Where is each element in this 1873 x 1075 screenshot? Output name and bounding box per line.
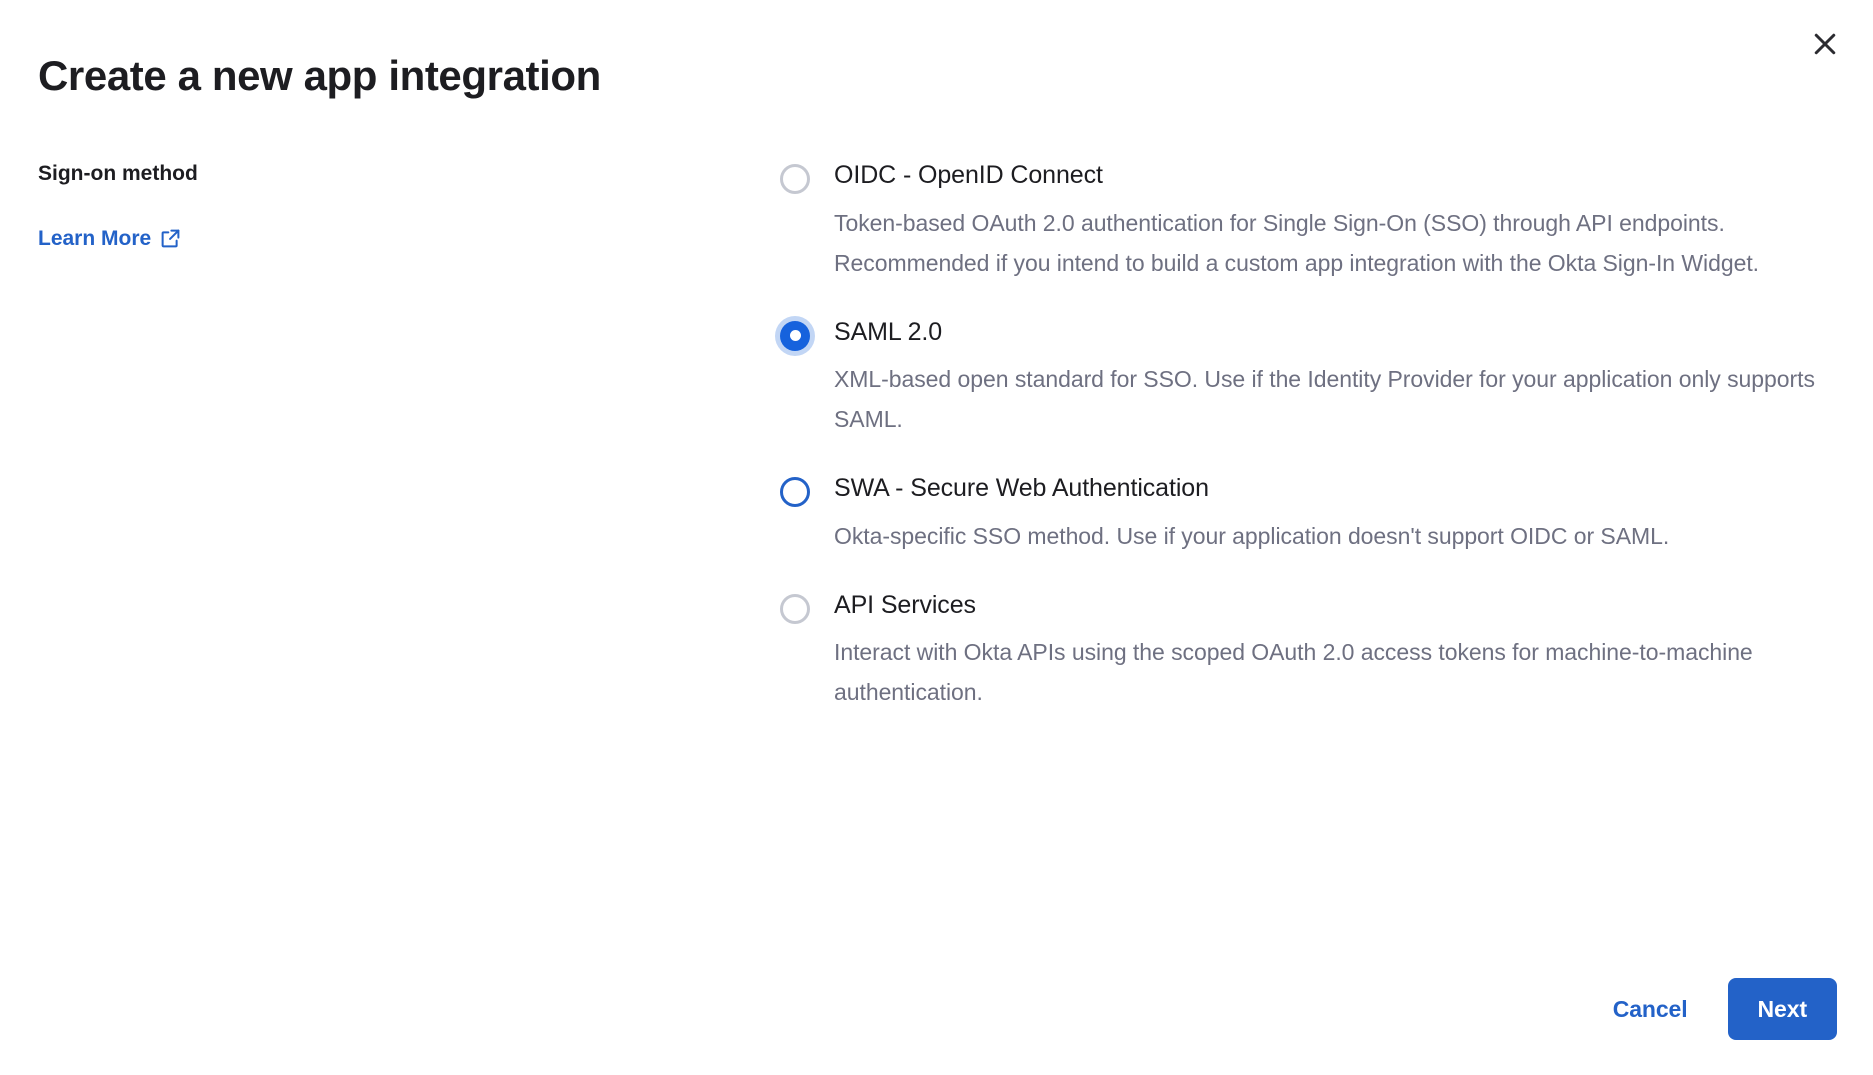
radio-swa[interactable] [780,477,810,507]
next-button[interactable]: Next [1728,978,1837,1040]
signon-method-column: Sign-on method Learn More [38,160,598,253]
option-oidc-description: Token-based OAuth 2.0 authentication for… [834,203,1830,283]
option-saml-description: XML-based open standard for SSO. Use if … [834,359,1830,439]
option-oidc[interactable]: OIDC - OpenID Connect Token-based OAuth … [770,160,1830,283]
signon-method-label: Sign-on method [38,160,598,187]
option-api-services[interactable]: API Services Interact with Okta APIs usi… [770,590,1830,713]
option-api-services-label: API Services [834,590,1830,621]
learn-more-link[interactable]: Learn More [38,225,181,252]
radio-oidc[interactable] [780,164,810,194]
option-api-services-description: Interact with Okta APIs using the scoped… [834,632,1830,712]
option-swa-description: Okta-specific SSO method. Use if your ap… [834,516,1830,556]
option-swa-label: SWA - Secure Web Authentication [834,473,1830,504]
close-icon [1810,29,1840,59]
learn-more-label: Learn More [38,225,151,252]
radio-api-services[interactable] [780,594,810,624]
cancel-button[interactable]: Cancel [1607,986,1694,1033]
dialog-footer: Cancel Next [1607,978,1837,1040]
create-app-integration-dialog: Create a new app integration Sign-on met… [0,0,1873,1075]
close-icon-button[interactable] [1799,18,1851,70]
option-saml-label: SAML 2.0 [834,317,1830,348]
page-title: Create a new app integration [38,52,601,101]
external-link-icon [160,228,181,249]
radio-saml[interactable] [780,321,810,351]
signon-method-options: OIDC - OpenID Connect Token-based OAuth … [770,160,1830,712]
option-swa[interactable]: SWA - Secure Web Authentication Okta-spe… [770,473,1830,556]
option-saml[interactable]: SAML 2.0 XML-based open standard for SSO… [770,317,1830,440]
option-oidc-label: OIDC - OpenID Connect [834,160,1830,191]
